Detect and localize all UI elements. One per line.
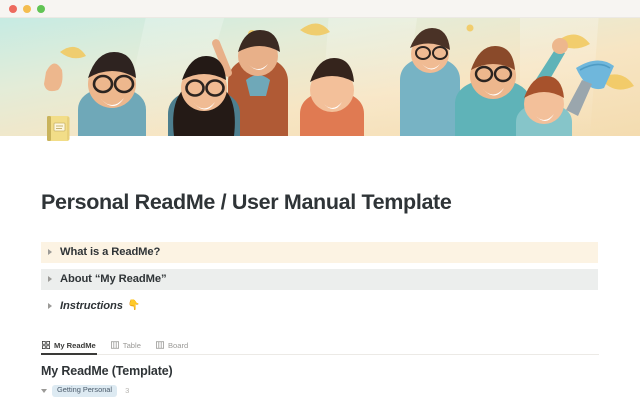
tab-board[interactable]: Board [155,339,189,354]
board-icon [156,341,164,349]
database-view-tabs: My ReadMe Table [41,339,599,355]
zoom-window-button[interactable] [37,5,45,13]
database-title: My ReadMe (Template) [41,364,599,378]
inline-database: My ReadMe Table [41,339,599,400]
tab-label: My ReadMe [54,341,96,350]
group-count: 3 [125,386,129,395]
chevron-right-icon[interactable] [48,276,52,282]
toggle-block-about-my-readme[interactable]: About “My ReadMe” [41,269,598,290]
page-cover-image[interactable] [0,18,640,136]
table-icon [111,341,119,349]
board-group-header[interactable]: Getting Personal 3 [41,385,599,397]
chevron-right-icon[interactable] [48,249,52,255]
chevron-down-icon[interactable] [41,389,47,393]
toggle-label: What is a ReadMe? [60,246,160,258]
gallery-icon [42,341,50,349]
window-titlebar [0,0,640,18]
tab-table[interactable]: Table [110,339,142,354]
traffic-lights [9,5,45,13]
toggle-block-what-is-a-readme[interactable]: What is a ReadMe? [41,242,598,263]
toggle-blocks: What is a ReadMe? About “My ReadMe” Inst… [41,242,599,317]
group-badge: Getting Personal [52,385,117,397]
tab-label: Table [123,341,141,350]
page-title: Personal ReadMe / User Manual Template [41,190,599,216]
close-window-button[interactable] [9,5,17,13]
tab-my-readme[interactable]: My ReadMe [41,339,97,354]
pointing-down-icon: 👇 [128,301,140,311]
page-content: Personal ReadMe / User Manual Template W… [0,190,640,400]
page-icon[interactable] [41,111,75,145]
tab-label: Board [168,341,188,350]
app-window: Personal ReadMe / User Manual Template W… [0,0,640,400]
minimize-window-button[interactable] [23,5,31,13]
toggle-block-instructions[interactable]: Instructions 👇 [41,296,598,317]
chevron-right-icon[interactable] [48,303,52,309]
toggle-label: About “My ReadMe” [60,273,166,285]
toggle-label: Instructions [60,300,123,312]
